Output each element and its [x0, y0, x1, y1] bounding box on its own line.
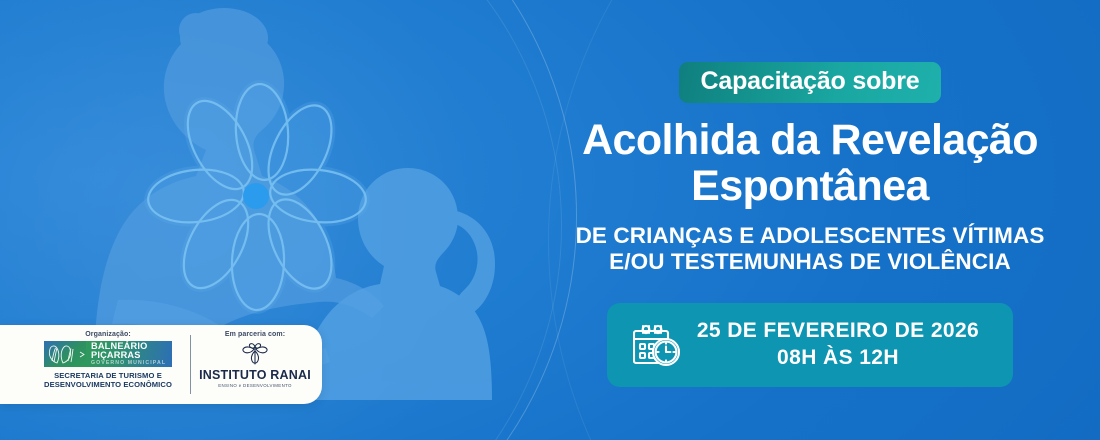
calendar-clock-icon: [633, 322, 681, 368]
balneario-picarras-wordmark: BALNEÁRIO PIÇARRAS GOVERNO MUNICIPAL: [86, 341, 172, 367]
organizer-caption: SECRETARIA DE TURISMO E DESENVOLVIMENTO …: [44, 371, 172, 389]
instituto-ranai-tagline: ENSINO e DESENVOLVIMENTO: [218, 383, 292, 388]
child-silhouette: [300, 168, 495, 400]
caption-line-2: DESENVOLVIMENTO ECONÔMICO: [44, 380, 172, 389]
page-title: Acolhida da Revelação Espontânea: [540, 117, 1080, 209]
shells-mark-glyph: [44, 341, 86, 367]
partners-panel: Organização:: [0, 325, 322, 404]
logo-line-2: PIÇARRAS: [91, 351, 172, 360]
date-line-1: 25 DE FEVEREIRO DE 2026: [697, 319, 979, 342]
organizer-block: Organização:: [0, 325, 190, 404]
subtitle-line-2: E/OU TESTEMUNHAS DE VIOLÊNCIA: [609, 249, 1011, 274]
instituto-ranai-wordmark: INSTITUTO RANAI: [199, 369, 311, 382]
ranai-butterfly-icon: [235, 341, 275, 367]
subtitle-line-1: DE CRIANÇAS E ADOLESCENTES VÍTIMAS: [576, 223, 1045, 248]
content-column: Capacitação sobre Acolhida da Revelação …: [520, 0, 1100, 440]
shells-mark-icon: [44, 341, 86, 367]
caption-line-1: SECRETARIA DE TURISMO E: [54, 371, 162, 380]
flower-silhouette: [141, 78, 373, 315]
balneario-picarras-logo: BALNEÁRIO PIÇARRAS GOVERNO MUNICIPAL: [44, 341, 172, 367]
date-text: 25 DE FEVEREIRO DE 2026 08H ÀS 12H: [697, 318, 979, 371]
subtitle: DE CRIANÇAS E ADOLESCENTES VÍTIMAS E/OU …: [576, 223, 1045, 275]
partners-divider: [190, 335, 191, 394]
date-time-badge: 25 DE FEVEREIRO DE 2026 08H ÀS 12H: [607, 303, 1013, 387]
date-line-2: 08H ÀS 12H: [697, 345, 979, 371]
logo-line-3: GOVERNO MUNICIPAL: [91, 360, 172, 366]
partner-block: Em parceria com: INSTITUTO RANAI ENSINO …: [191, 325, 319, 404]
eyebrow-badge: Capacitação sobre: [679, 62, 942, 103]
organizer-label: Organização:: [85, 331, 131, 338]
event-banner: Capacitação sobre Acolhida da Revelação …: [0, 0, 1100, 440]
partner-label: Em parceria com:: [225, 331, 285, 338]
